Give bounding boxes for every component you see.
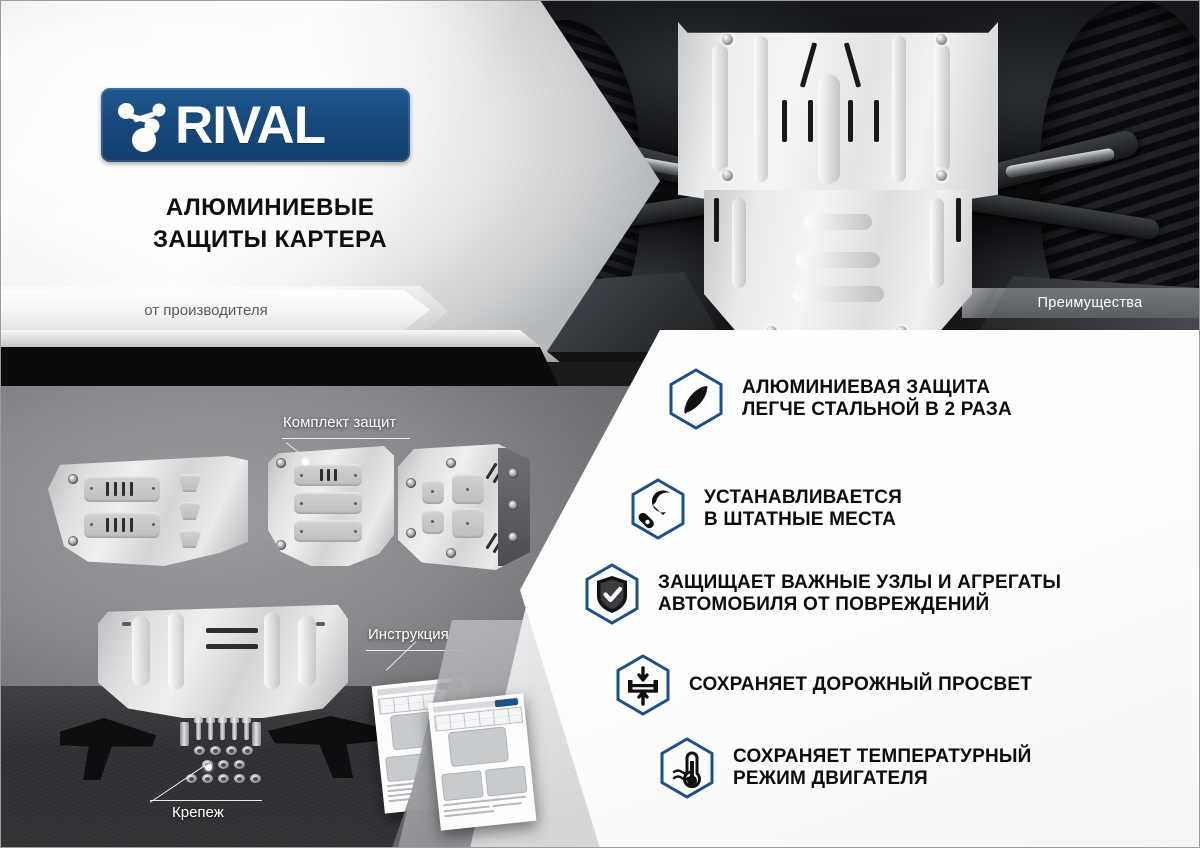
advantages-tab-label: Преимущества bbox=[1038, 295, 1143, 311]
callout-hardware-underline bbox=[150, 800, 262, 801]
subtitle-band: от производителя bbox=[0, 290, 430, 330]
instruction-sheet-back bbox=[428, 693, 537, 830]
wrench-icon bbox=[630, 478, 686, 540]
callout-kit-label: Комплект защит bbox=[283, 414, 396, 431]
feature-text-3: ЗАЩИЩАЕТ ВАЖНЫЕ УЗЛЫ И АГРЕГАТЫ АВТОМОБИ… bbox=[658, 572, 1061, 617]
feature-text-2: УСТАНАВЛИВАЕТСЯ В ШТАТНЫЕ МЕСТА bbox=[704, 487, 902, 532]
advantages-tab: Преимущества bbox=[980, 288, 1200, 318]
page-title: АЛЮМИНИЕВЫЕ ЗАЩИТЫ КАРТЕРА bbox=[0, 192, 540, 255]
feather-icon bbox=[668, 368, 724, 430]
feature-item-5: СОХРАНЯЕТ ТЕМПЕРАТУРНЫЙ РЕЖИМ ДВИГАТЕЛЯ bbox=[659, 737, 1032, 799]
molecule-icon bbox=[113, 98, 177, 152]
rival-logo: RIVAL bbox=[101, 88, 410, 162]
callout-hardware-label: Крепеж bbox=[172, 804, 224, 821]
ground-clearance-icon bbox=[615, 654, 671, 716]
callout-manual-label: Инструкция bbox=[368, 626, 449, 643]
black-divider bbox=[0, 347, 560, 389]
feature-text-1: АЛЮМИНИЕВАЯ ЗАЩИТА ЛЕГЧЕ СТАЛЬНОЙ В 2 РА… bbox=[742, 377, 1012, 422]
hero-title-line-1: АЛЮМИНИЕВЫЕ bbox=[0, 192, 540, 224]
thermometer-icon bbox=[659, 737, 715, 799]
rival-logo-text: RIVAL bbox=[175, 99, 325, 152]
installed-skid-plate bbox=[678, 22, 998, 352]
skid-plate-left bbox=[48, 456, 248, 566]
callout-hardware-dot bbox=[205, 764, 212, 771]
skid-plate-upper bbox=[678, 22, 998, 202]
callout-kit-underline bbox=[282, 438, 410, 439]
feature-item-3: ЗАЩИЩАЕТ ВАЖНЫЕ УЗЛЫ И АГРЕГАТЫ АВТОМОБИ… bbox=[584, 563, 1061, 625]
feature-text-4: СОХРАНЯЕТ ДОРОЖНЫЙ ПРОСВЕТ bbox=[689, 674, 1032, 696]
skid-plate-center bbox=[268, 446, 394, 566]
hero-subtitle: от производителя bbox=[144, 302, 285, 319]
hero-title-line-2: ЗАЩИТЫ КАРТЕРА bbox=[0, 224, 540, 256]
shield-check-icon bbox=[584, 563, 640, 625]
feature-text-5: СОХРАНЯЕТ ТЕМПЕРАТУРНЫЙ РЕЖИМ ДВИГАТЕЛЯ bbox=[733, 746, 1032, 791]
skid-plate-right bbox=[398, 444, 530, 570]
skid-plate-bottom bbox=[98, 600, 348, 718]
feature-item-2: УСТАНАВЛИВАЕТСЯ В ШТАТНЫЕ МЕСТА bbox=[630, 478, 902, 540]
feature-item-4: СОХРАНЯЕТ ДОРОЖНЫЙ ПРОСВЕТ bbox=[615, 654, 1032, 716]
promo-banner: Преимущества RIVAL АЛЮМИНИЕВЫЕ ЗАЩИТЫ КА… bbox=[0, 0, 1200, 848]
feature-item-1: АЛЮМИНИЕВАЯ ЗАЩИТА ЛЕГЧЕ СТАЛЬНОЙ В 2 РА… bbox=[668, 368, 1012, 430]
